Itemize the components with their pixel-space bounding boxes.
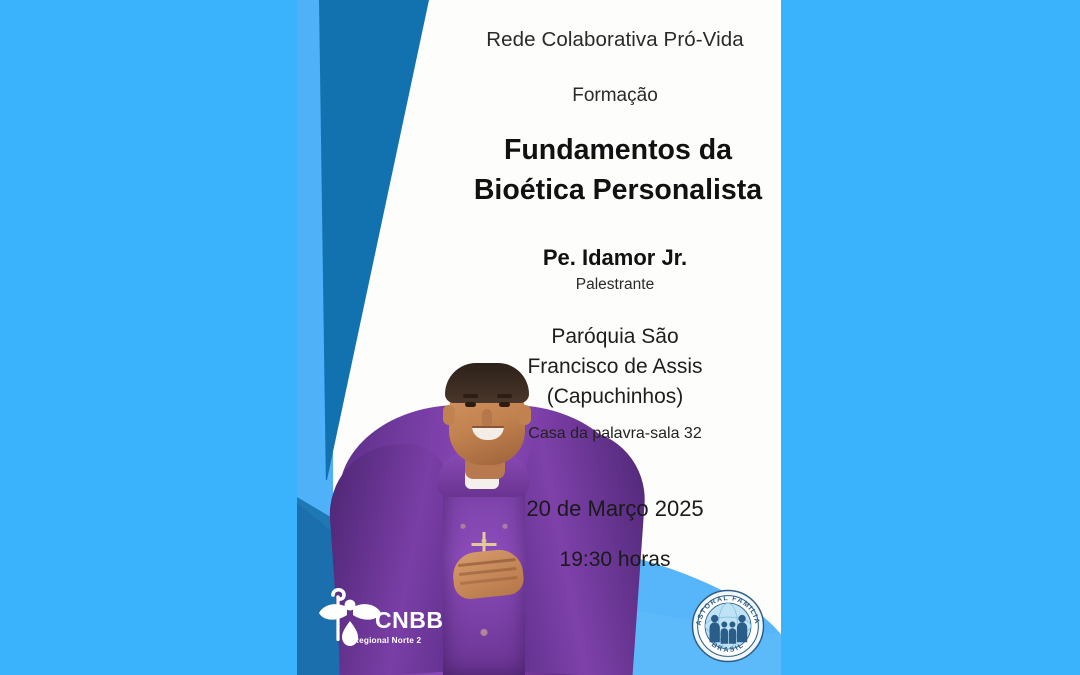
organization-name: Rede Colaborativa Pró-Vida — [457, 28, 773, 52]
event-title-line-2: Bioética Personalista — [463, 170, 773, 210]
event-kicker: Formação — [457, 85, 773, 107]
cnbb-logo: CNBB Regional Norte 2 — [313, 583, 453, 665]
poster-canvas: Rede Colaborativa Pró-Vida Formação Fund… — [0, 0, 1080, 675]
poster-panel: Rede Colaborativa Pró-Vida Formação Fund… — [297, 0, 781, 675]
pastoral-familiar-seal-logo: PASTORAL FAMILIAR BRASIL — [691, 589, 765, 663]
event-time: 19:30 horas — [457, 548, 773, 572]
venue-room: Casa da palavra-sala 32 — [457, 425, 773, 443]
speaker-role: Palestrante — [457, 276, 773, 294]
venue-line-1: Paróquia São — [457, 322, 773, 352]
event-title: Fundamentos da Bioética Personalista — [463, 130, 773, 211]
venue-name: Paróquia São Francisco de Assis (Capuchi… — [457, 322, 773, 411]
cnbb-wordmark: CNBB — [375, 607, 443, 634]
venue-line-3: (Capuchinhos) — [457, 382, 773, 412]
cnbb-subtitle: Regional Norte 2 — [353, 636, 421, 645]
speaker-name: Pe. Idamor Jr. — [457, 245, 773, 271]
event-title-line-1: Fundamentos da — [463, 130, 773, 170]
event-date: 20 de Março 2025 — [457, 496, 773, 522]
poster-text-column: Rede Colaborativa Pró-Vida Formação Fund… — [457, 0, 781, 675]
ear-left — [443, 405, 455, 425]
venue-line-2: Francisco de Assis — [457, 352, 773, 382]
